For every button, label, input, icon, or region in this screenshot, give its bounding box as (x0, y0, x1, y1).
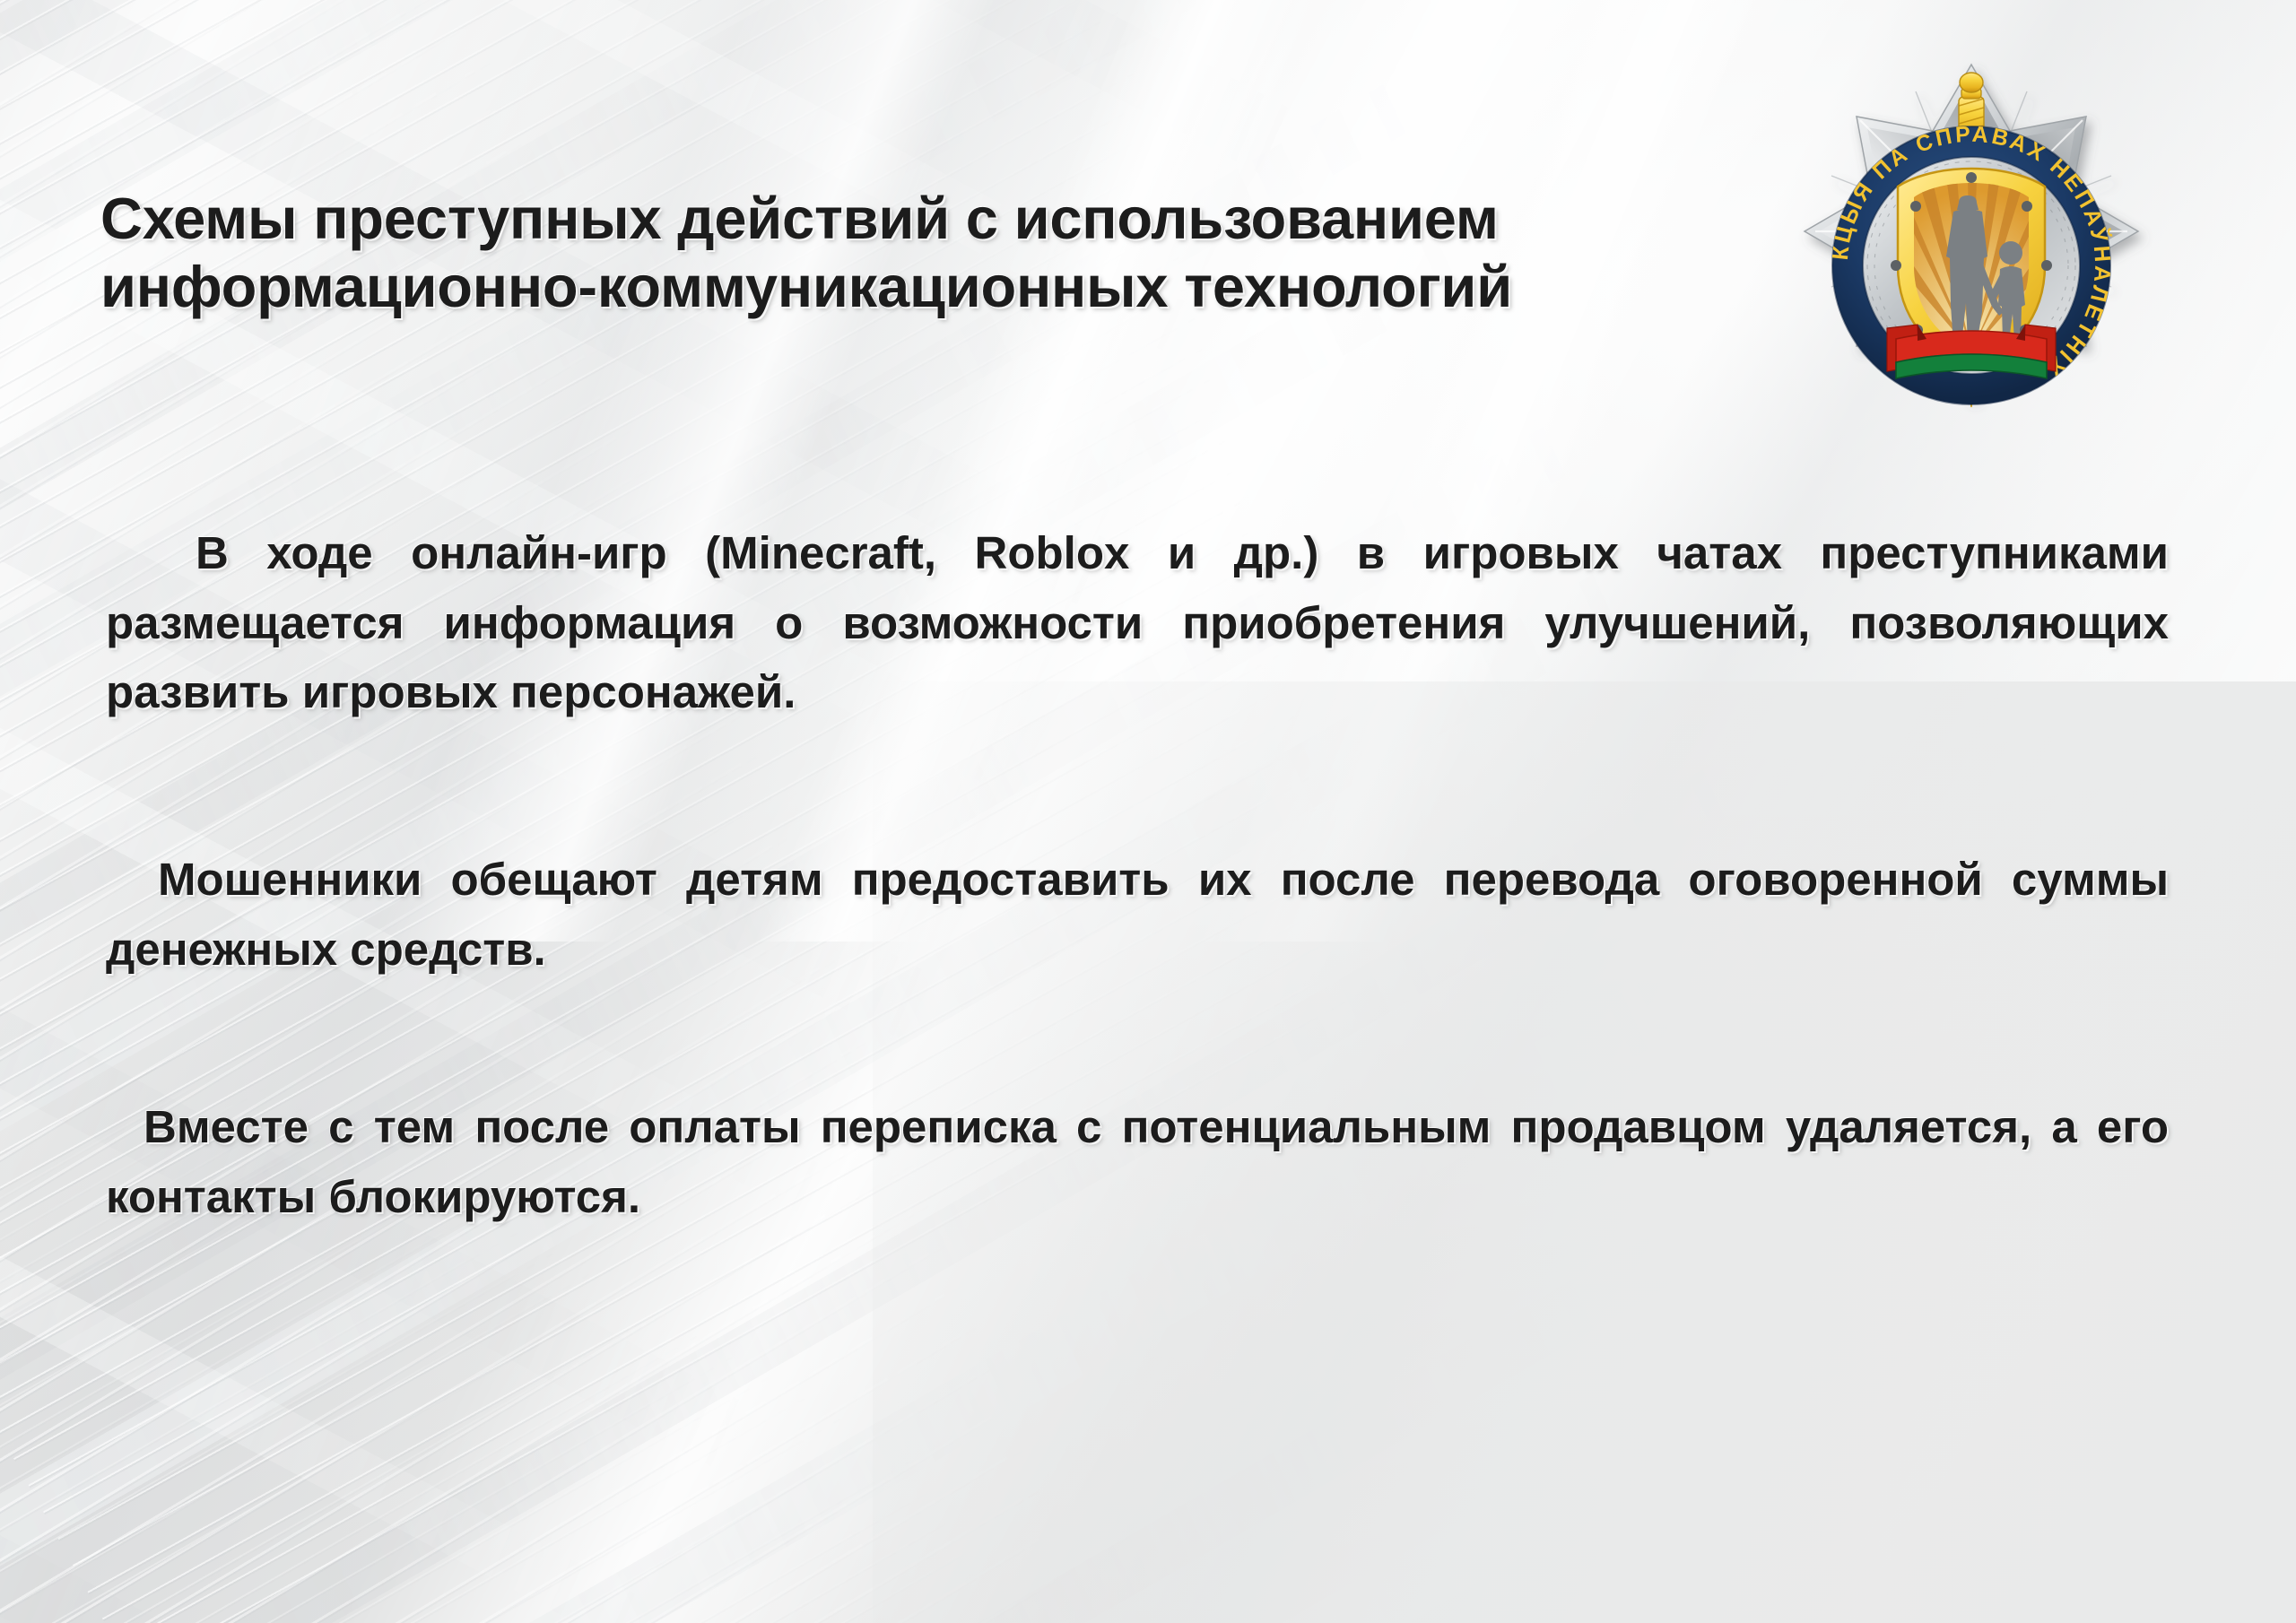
slide-content: Схемы преступных действий с использовани… (0, 0, 2296, 1623)
slide-title-line-2: информационно-коммуникационных технологи… (100, 253, 1742, 321)
body-paragraph-3: Вместе с тем после оплаты переписка с по… (106, 1092, 2169, 1231)
organization-emblem: ІНСПЕКЦЫЯ ПА СПРАВАХ НЕПАЎНАЛЕТНІХ (1783, 43, 2160, 438)
emblem-ribbon (1887, 325, 2056, 378)
paragraph-2-text: Мошенники обещают детям предоставить их … (106, 845, 2169, 984)
slide-title: Схемы преступных действий с использовани… (100, 185, 1742, 321)
emblem-svg: ІНСПЕКЦЫЯ ПА СПРАВАХ НЕПАЎНАЛЕТНІХ (1783, 43, 2160, 438)
body-paragraph-2: Мошенники обещают детям предоставить их … (106, 845, 2169, 984)
presentation-slide: Схемы преступных действий с использовани… (0, 0, 2296, 1623)
paragraph-3-text: Вместе с тем после оплаты переписка с по… (106, 1092, 2169, 1231)
body-paragraph-1: В ходе онлайн-игр (Minecraft, Roblox и д… (106, 518, 2169, 727)
slide-title-line-1: Схемы преступных действий с использовани… (100, 185, 1742, 253)
paragraph-1-text: В ходе онлайн-игр (Minecraft, Roblox и д… (106, 518, 2169, 727)
